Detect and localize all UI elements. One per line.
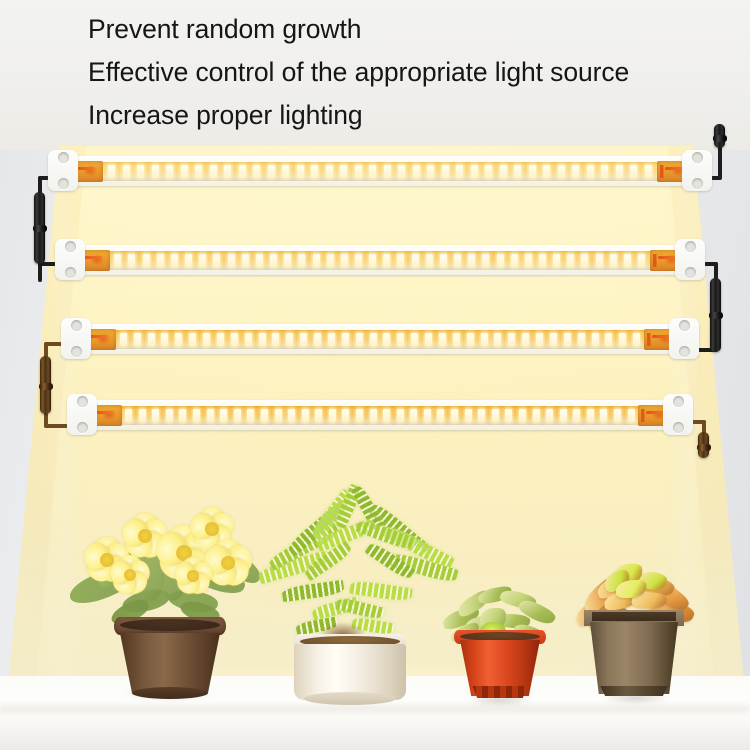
led-diode	[522, 333, 529, 346]
led-diode	[259, 333, 266, 346]
led-diode	[137, 165, 144, 178]
led-diode	[564, 333, 571, 346]
mounting-tab	[55, 239, 85, 280]
flower-center	[138, 529, 152, 543]
led-diode	[383, 333, 390, 346]
mounting-screw-hole	[673, 422, 684, 433]
led-diode	[587, 409, 594, 422]
led-diode	[234, 409, 241, 422]
led-diode	[270, 254, 277, 267]
led-diode	[519, 409, 526, 422]
led-diode	[610, 254, 617, 267]
led-diode	[253, 165, 260, 178]
led-diode	[203, 333, 210, 346]
led-diode	[369, 254, 376, 267]
led-diode	[397, 254, 404, 267]
led-diode	[313, 254, 320, 267]
flower-bloom	[110, 555, 150, 595]
led-diode	[166, 409, 173, 422]
mounting-screw-hole	[58, 178, 69, 189]
led-diode	[108, 165, 115, 178]
led-diode	[370, 409, 377, 422]
led-diode	[628, 409, 635, 422]
led-diode	[645, 165, 652, 178]
led-diode	[411, 333, 418, 346]
led-diode	[123, 165, 130, 178]
led-diode	[315, 409, 322, 422]
mounting-tab	[675, 239, 705, 280]
led-diode	[342, 333, 349, 346]
led-diode	[442, 165, 449, 178]
led-diode	[398, 165, 405, 178]
led-diode	[342, 409, 349, 422]
led-diode	[454, 254, 461, 267]
led-diode	[558, 165, 565, 178]
fern-frond	[349, 580, 412, 602]
led-diode	[424, 409, 431, 422]
led-diode	[148, 333, 155, 346]
mounting-screw-hole	[692, 178, 703, 189]
endcap-lead-wire	[88, 335, 108, 338]
led-diode	[161, 333, 168, 346]
plant	[252, 492, 442, 710]
led-diode	[514, 165, 521, 178]
led-diode	[581, 254, 588, 267]
led-diode	[546, 409, 553, 422]
led-diode	[275, 409, 282, 422]
dc-barrel-connector-bottom-right	[698, 432, 709, 458]
endcap-lead-wire	[94, 411, 114, 414]
led-diode-row	[77, 162, 683, 181]
pot-interior	[592, 612, 676, 621]
endcap-lead-wire	[82, 256, 102, 259]
led-diode	[543, 165, 550, 178]
led-diode	[525, 254, 532, 267]
mounting-tab	[61, 318, 91, 359]
led-diode	[587, 165, 594, 178]
led-diode	[453, 333, 460, 346]
led-diode	[228, 254, 235, 267]
led-diode	[134, 333, 141, 346]
led-diode	[468, 254, 475, 267]
led-diode	[619, 333, 626, 346]
led-diode	[497, 254, 504, 267]
led-diode	[185, 254, 192, 267]
led-diode	[500, 165, 507, 178]
led-diode	[261, 409, 268, 422]
led-diode	[171, 254, 178, 267]
led-diode	[220, 409, 227, 422]
led-diode	[425, 333, 432, 346]
led-diode	[410, 409, 417, 422]
led-diode	[356, 333, 363, 346]
plant	[70, 495, 270, 710]
led-diode	[601, 165, 608, 178]
led-diode	[383, 409, 390, 422]
led-diode	[616, 165, 623, 178]
led-diode	[592, 333, 599, 346]
led-diode	[560, 409, 567, 422]
led-diode	[567, 254, 574, 267]
led-diode	[297, 165, 304, 178]
led-diode	[397, 333, 404, 346]
led-diode	[439, 333, 446, 346]
led-diode	[179, 409, 186, 422]
product-scene: Prevent random growth Effective control …	[0, 0, 750, 750]
led-diode	[383, 254, 390, 267]
led-diode	[355, 165, 362, 178]
plant	[440, 582, 560, 710]
led-diode	[195, 165, 202, 178]
led-diode	[533, 409, 540, 422]
led-diode	[494, 333, 501, 346]
led-diode	[326, 165, 333, 178]
led-diode	[451, 409, 458, 422]
led-diode	[413, 165, 420, 178]
led-diode	[328, 333, 335, 346]
led-diode	[492, 409, 499, 422]
led-diode	[217, 333, 224, 346]
led-diode	[166, 165, 173, 178]
led-diode	[553, 254, 560, 267]
mounting-screw-hole	[71, 320, 82, 331]
mounting-tab	[48, 150, 78, 191]
led-diode	[128, 254, 135, 267]
led-diode	[550, 333, 557, 346]
led-diode	[327, 254, 334, 267]
led-diode	[152, 165, 159, 178]
led-diode	[286, 333, 293, 346]
flower-center	[187, 570, 198, 581]
led-diode	[210, 165, 217, 178]
mounting-screw-hole	[692, 152, 703, 163]
pot-interior	[120, 619, 220, 631]
led-diode	[311, 165, 318, 178]
led-diode	[213, 254, 220, 267]
led-diode	[596, 254, 603, 267]
led-diode	[300, 333, 307, 346]
led-diode	[630, 165, 637, 178]
led-diode	[245, 333, 252, 346]
led-diode	[175, 333, 182, 346]
mounting-screw-hole	[685, 267, 696, 278]
mounting-tab	[663, 394, 693, 435]
led-diode	[139, 409, 146, 422]
led-diode	[633, 333, 640, 346]
led-diode	[189, 333, 196, 346]
led-diode	[511, 254, 518, 267]
led-diode	[207, 409, 214, 422]
mounting-screw-hole	[685, 241, 696, 252]
led-diode	[456, 165, 463, 178]
led-diode	[437, 409, 444, 422]
led-diode	[314, 333, 321, 346]
led-strip	[77, 162, 683, 181]
led-diode	[471, 165, 478, 178]
led-diode	[120, 333, 127, 346]
led-diode	[224, 165, 231, 178]
mounting-screw-hole	[65, 241, 76, 252]
led-diode	[239, 165, 246, 178]
led-diode	[284, 254, 291, 267]
led-strip	[96, 406, 664, 425]
led-diode	[369, 165, 376, 178]
led-diode	[370, 333, 377, 346]
led-diode-row	[84, 251, 676, 270]
light-bar	[68, 316, 692, 362]
led-diode-row	[90, 330, 670, 349]
led-diode	[481, 333, 488, 346]
led-diode-row	[96, 406, 664, 425]
mounting-screw-hole	[673, 396, 684, 407]
led-diode	[605, 333, 612, 346]
led-diode	[268, 165, 275, 178]
led-diode	[288, 409, 295, 422]
fern-frond	[281, 580, 344, 602]
led-diode	[638, 254, 645, 267]
led-diode	[302, 409, 309, 422]
flower-center	[205, 522, 218, 535]
pot-interior	[460, 632, 540, 641]
led-diode	[152, 409, 159, 422]
led-diode	[282, 165, 289, 178]
led-diode	[384, 165, 391, 178]
pot-body	[120, 633, 220, 693]
endcap-lead-wire	[75, 167, 95, 170]
led-diode	[508, 333, 515, 346]
led-diode	[143, 254, 150, 267]
connector-collar	[697, 444, 711, 451]
led-diode	[427, 165, 434, 178]
led-diode	[578, 333, 585, 346]
plant	[570, 558, 700, 710]
led-diode	[505, 409, 512, 422]
led-diode	[355, 254, 362, 267]
mounting-tab	[682, 150, 712, 191]
led-diode	[256, 254, 263, 267]
pot-base	[304, 692, 396, 705]
led-diode	[614, 409, 621, 422]
led-diode	[485, 165, 492, 178]
mounting-screw-hole	[58, 152, 69, 163]
led-diode	[193, 409, 200, 422]
led-diode	[478, 409, 485, 422]
led-diode	[465, 409, 472, 422]
led-diode	[114, 254, 121, 267]
led-diode	[341, 254, 348, 267]
mounting-tab	[67, 394, 97, 435]
led-diode	[329, 409, 336, 422]
led-diode	[231, 333, 238, 346]
led-diode	[536, 333, 543, 346]
led-diode	[272, 333, 279, 346]
mounting-screw-hole	[679, 320, 690, 331]
led-diode	[572, 165, 579, 178]
led-diode	[298, 254, 305, 267]
led-diode	[600, 409, 607, 422]
pot-base	[598, 686, 670, 696]
mounting-screw-hole	[71, 346, 82, 357]
led-diode	[125, 409, 132, 422]
flower-center	[124, 569, 136, 581]
led-diode	[397, 409, 404, 422]
led-diode	[242, 254, 249, 267]
led-strip	[90, 330, 670, 349]
mounting-screw-hole	[77, 396, 88, 407]
led-diode	[157, 254, 164, 267]
led-strip	[84, 251, 676, 270]
pot-base-ribs	[470, 686, 530, 698]
led-diode	[539, 254, 546, 267]
flower-bloom	[174, 557, 212, 595]
led-diode	[426, 254, 433, 267]
mounting-screw-hole	[77, 422, 88, 433]
mounting-tab	[669, 318, 699, 359]
led-diode	[356, 409, 363, 422]
light-bar	[62, 237, 698, 283]
led-diode	[467, 333, 474, 346]
led-diode	[412, 254, 419, 267]
led-diode	[440, 254, 447, 267]
mounting-screw-hole	[65, 267, 76, 278]
led-diode	[624, 254, 631, 267]
led-diode	[340, 165, 347, 178]
pot-body	[590, 622, 678, 694]
led-diode	[573, 409, 580, 422]
led-diode	[247, 409, 254, 422]
led-diode	[181, 165, 188, 178]
light-bar	[74, 392, 686, 438]
led-diode	[199, 254, 206, 267]
pot-base	[132, 687, 208, 699]
led-diode	[529, 165, 536, 178]
mounting-screw-hole	[679, 346, 690, 357]
light-bar	[55, 148, 705, 194]
led-diode	[482, 254, 489, 267]
